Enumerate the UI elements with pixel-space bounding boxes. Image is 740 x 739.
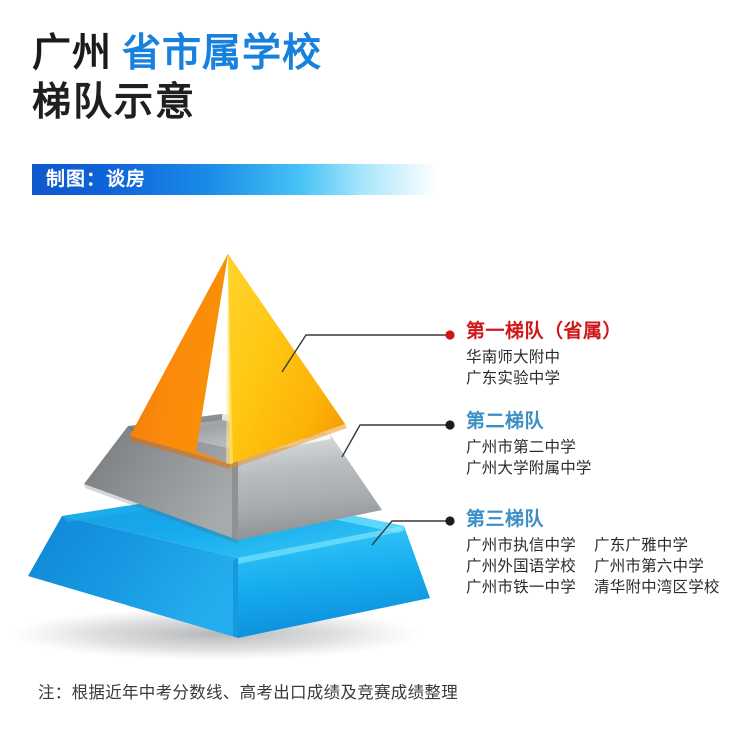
school-item: 华南师大附中 [466,347,740,368]
school-item: 广州大学附属中学 [466,458,740,479]
title-accent: 省市属学校 [122,32,322,75]
tier-2-heading: 第二梯队 [466,410,740,434]
tier-3-school-list: 广州市执信中学 广东广雅中学 广州外国语学校 广州市第六中学 广州市铁一中学 清… [466,535,740,598]
pyramid-level-1-orange [130,254,347,469]
page-title-line2: 梯队示意 [32,78,722,128]
school-item: 广州市第六中学 [594,556,704,577]
school-item: 广州市执信中学 [466,535,594,556]
title-city: 广州 [32,32,112,75]
tier-1-heading: 第一梯队（省属） [466,320,740,344]
school-item: 广州市铁一中学 [466,577,594,598]
tier-block-1: 第一梯队（省属） 华南师大附中 广东实验中学 [466,320,740,389]
pyramid-diagram [0,238,470,663]
school-row: 广州市铁一中学 清华附中湾区学校 [466,577,740,598]
school-item: 广东广雅中学 [594,535,688,556]
tier-1-school-list: 华南师大附中 广东实验中学 [466,347,740,389]
tier-3-heading: 第三梯队 [466,508,740,532]
school-row: 广州外国语学校 广州市第六中学 [466,556,740,577]
tier-block-2: 第二梯队 广州市第二中学 广州大学附属中学 [466,410,740,479]
school-item: 广东实验中学 [466,368,740,389]
school-item: 清华附中湾区学校 [594,577,720,598]
credit-label: 制图：谈房 [46,168,146,191]
tier-2-school-list: 广州市第二中学 广州大学附属中学 [466,437,740,479]
page-header: 广州省市属学校 梯队示意 [32,30,722,128]
school-row: 广州市执信中学 广东广雅中学 [466,535,740,556]
page-title-line1: 广州省市属学校 [32,30,722,78]
tier-block-3: 第三梯队 广州市执信中学 广东广雅中学 广州外国语学校 广州市第六中学 广州市铁… [466,508,740,598]
school-item: 广州外国语学校 [466,556,594,577]
footnote: 注：根据近年中考分数线、高考出口成绩及竞赛成绩整理 [38,682,458,704]
school-item: 广州市第二中学 [466,437,740,458]
